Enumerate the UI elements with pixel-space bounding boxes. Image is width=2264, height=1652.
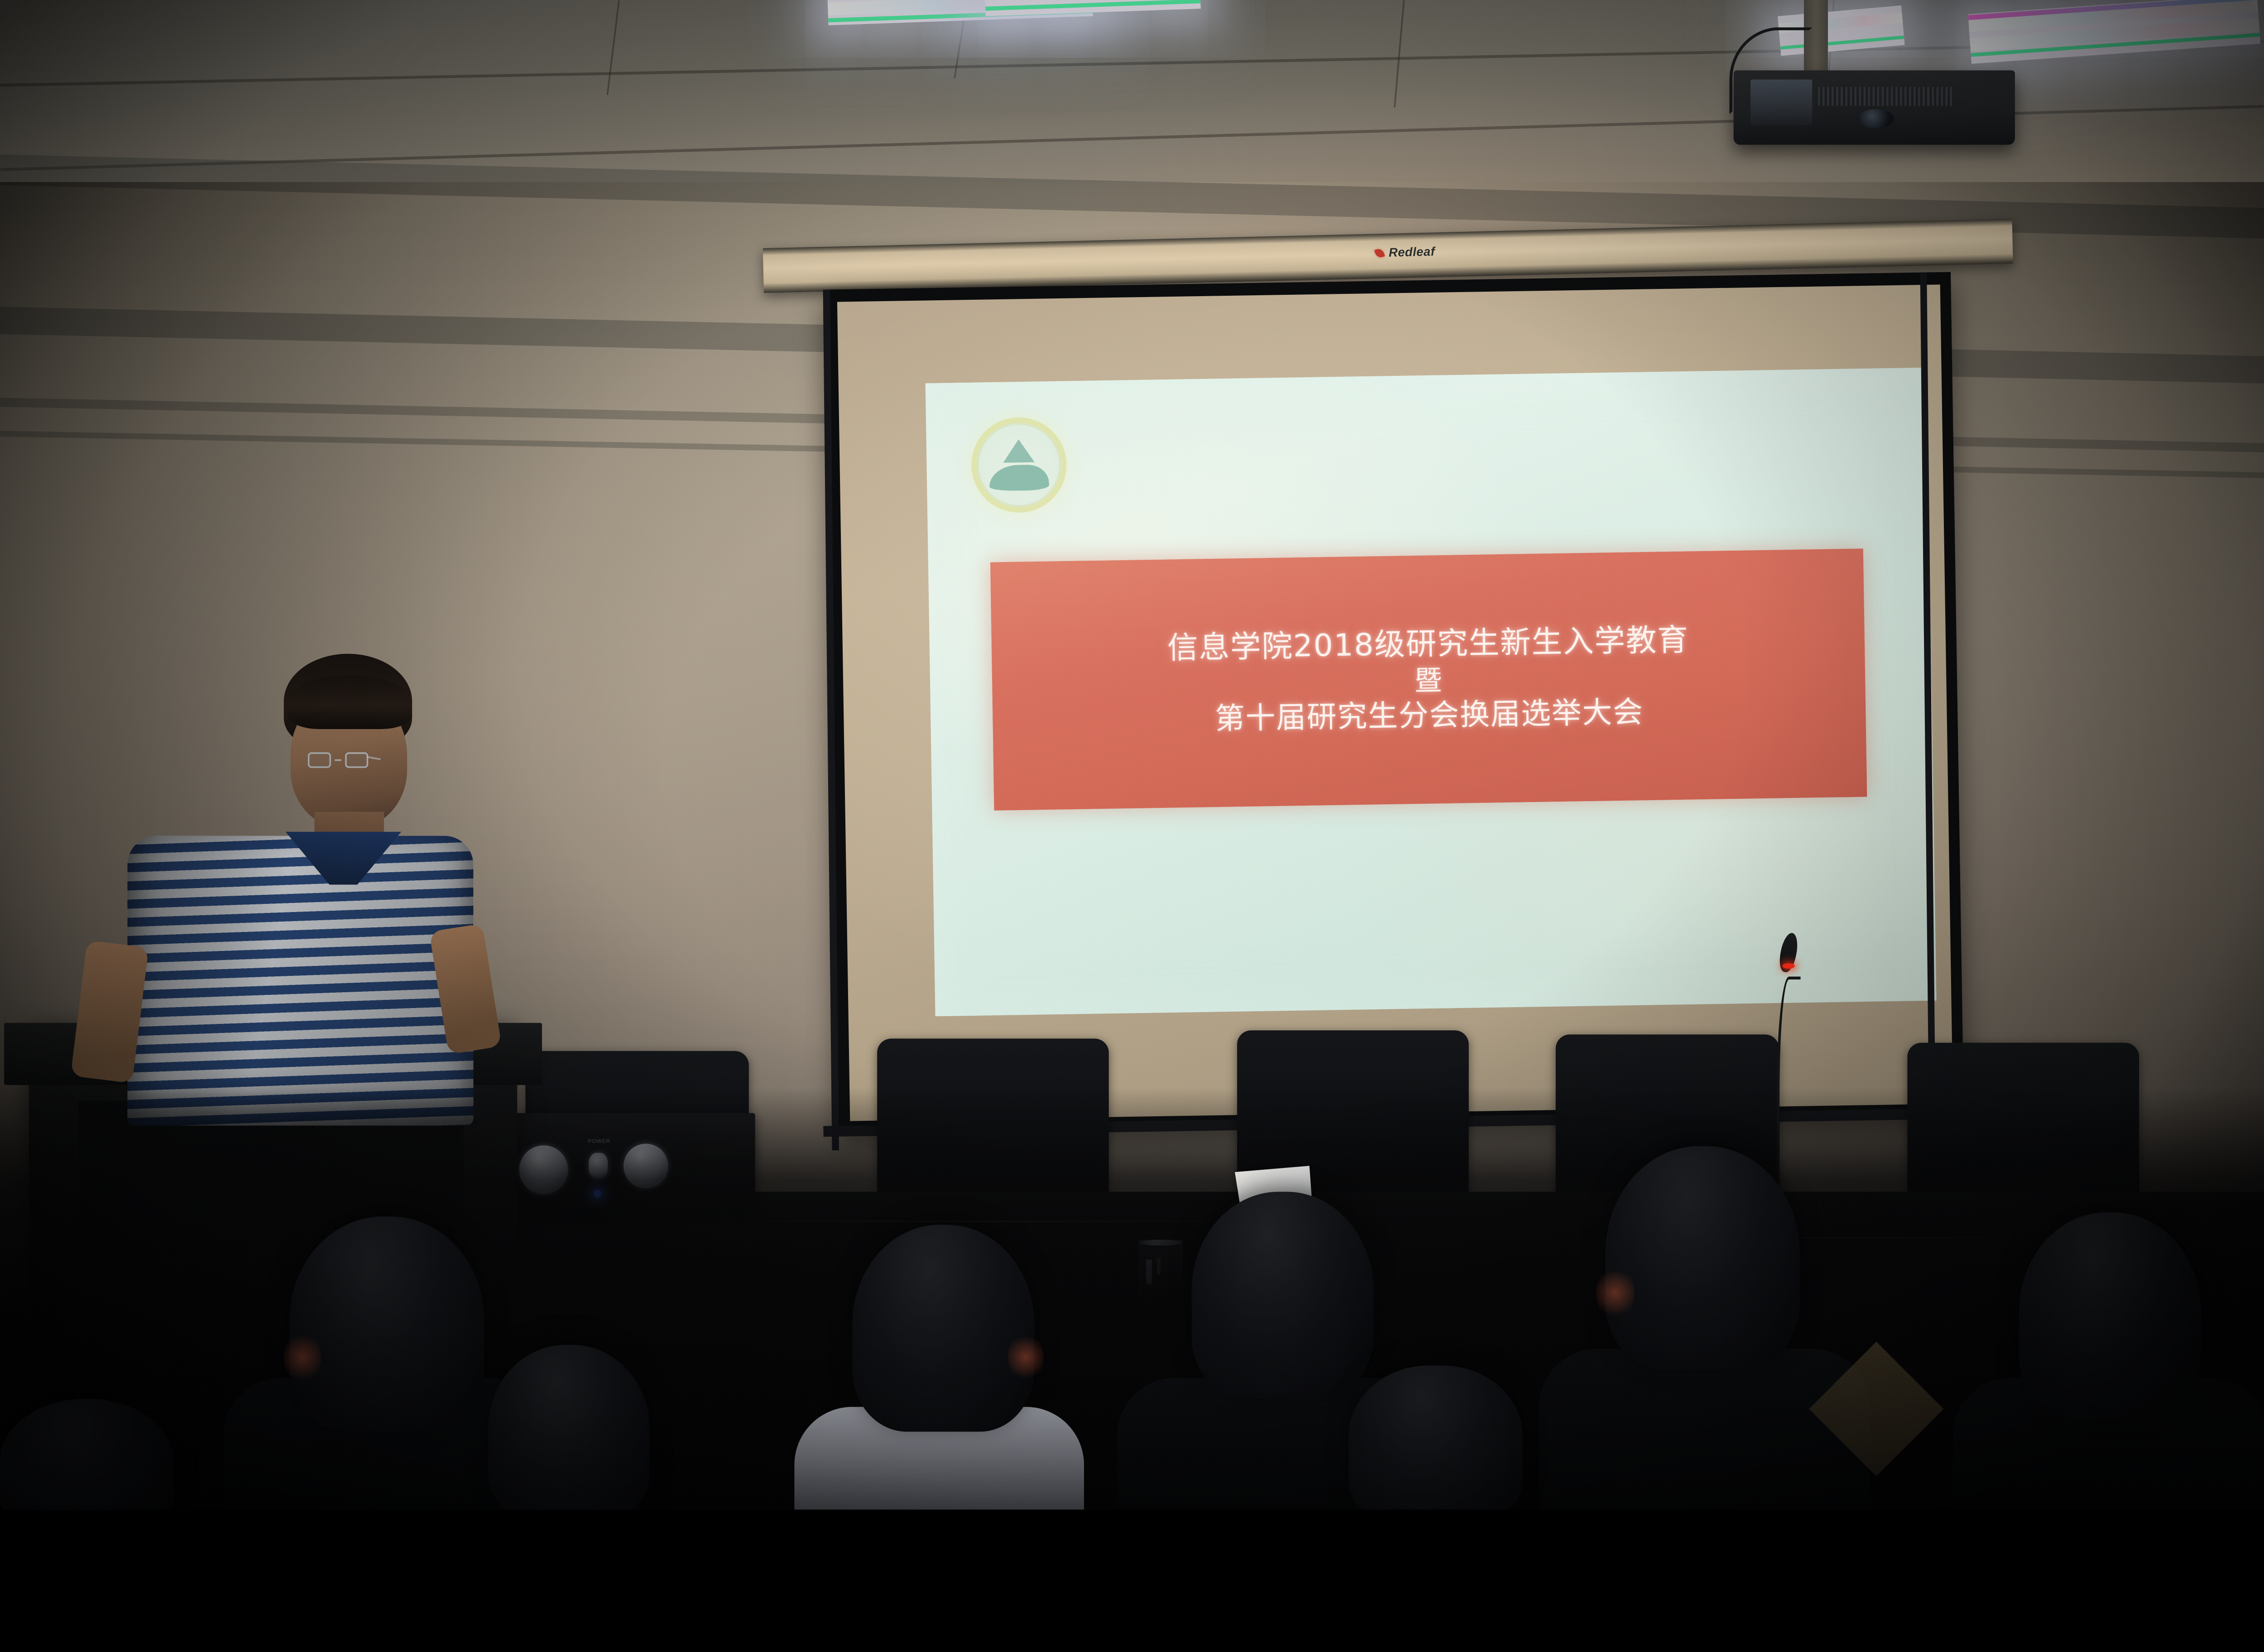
audience-head: [852, 1225, 1034, 1432]
audience-ear-backlight: [1008, 1332, 1044, 1382]
audience-ear-backlight: [1596, 1266, 1634, 1320]
eyeglass-lens-right: [345, 752, 368, 768]
eyeglass-lens-left: [308, 752, 331, 768]
university-emblem-logo: [971, 417, 1067, 513]
emblem-peak-icon: [1003, 439, 1035, 463]
audience-head: [488, 1345, 649, 1510]
projector-body-sheen: [1751, 79, 1813, 125]
slide-title-line-3: 第十届研究生分会换届选举大会: [1214, 694, 1644, 736]
presenter-hair-fringe: [288, 675, 412, 729]
screen-brand-label: Redleaf: [1375, 245, 1435, 260]
lecture-hall-photo: Redleaf 信息学院2018级研究生新生入学教育 暨: [0, 0, 2264, 1509]
screen-brand-text: Redleaf: [1389, 245, 1435, 260]
audience-head: [290, 1216, 484, 1431]
audience-head: [1605, 1146, 1799, 1369]
eyeglass-bridge: [335, 759, 341, 761]
audience-shoulders: [1539, 1349, 1870, 1510]
presenter-at-podium: [54, 654, 517, 1109]
audience-ear-backlight: [284, 1331, 321, 1385]
shirt-shading: [127, 836, 473, 1126]
microphone-indicator-led: [1782, 963, 1794, 969]
projected-slide: 信息学院2018级研究生新生入学教育 暨 第十届研究生分会换届选举大会: [926, 368, 1937, 1017]
audience-head: [1349, 1365, 1523, 1509]
slide-title-line-2: 暨: [1415, 664, 1443, 697]
emblem-wave-icon: [989, 465, 1049, 491]
projector-vent: [1818, 87, 1953, 106]
audience-head: [2019, 1212, 2201, 1419]
presenter-striped-polo-shirt: [127, 836, 473, 1126]
emblem-mountain-wave-mark: [987, 437, 1050, 493]
audience-head: [1192, 1192, 1374, 1399]
slide-title-band: 信息学院2018级研究生新生入学教育 暨 第十届研究生分会换届选举大会: [990, 548, 1867, 810]
red-leaf-icon: [1374, 248, 1385, 259]
presenter-eyeglasses: [308, 752, 368, 768]
projector-lens: [1857, 109, 1894, 129]
ceiling-mounted-projector: [1734, 70, 2015, 144]
slide-title-line-1: 信息学院2018级研究生新生入学教育: [1167, 622, 1689, 667]
